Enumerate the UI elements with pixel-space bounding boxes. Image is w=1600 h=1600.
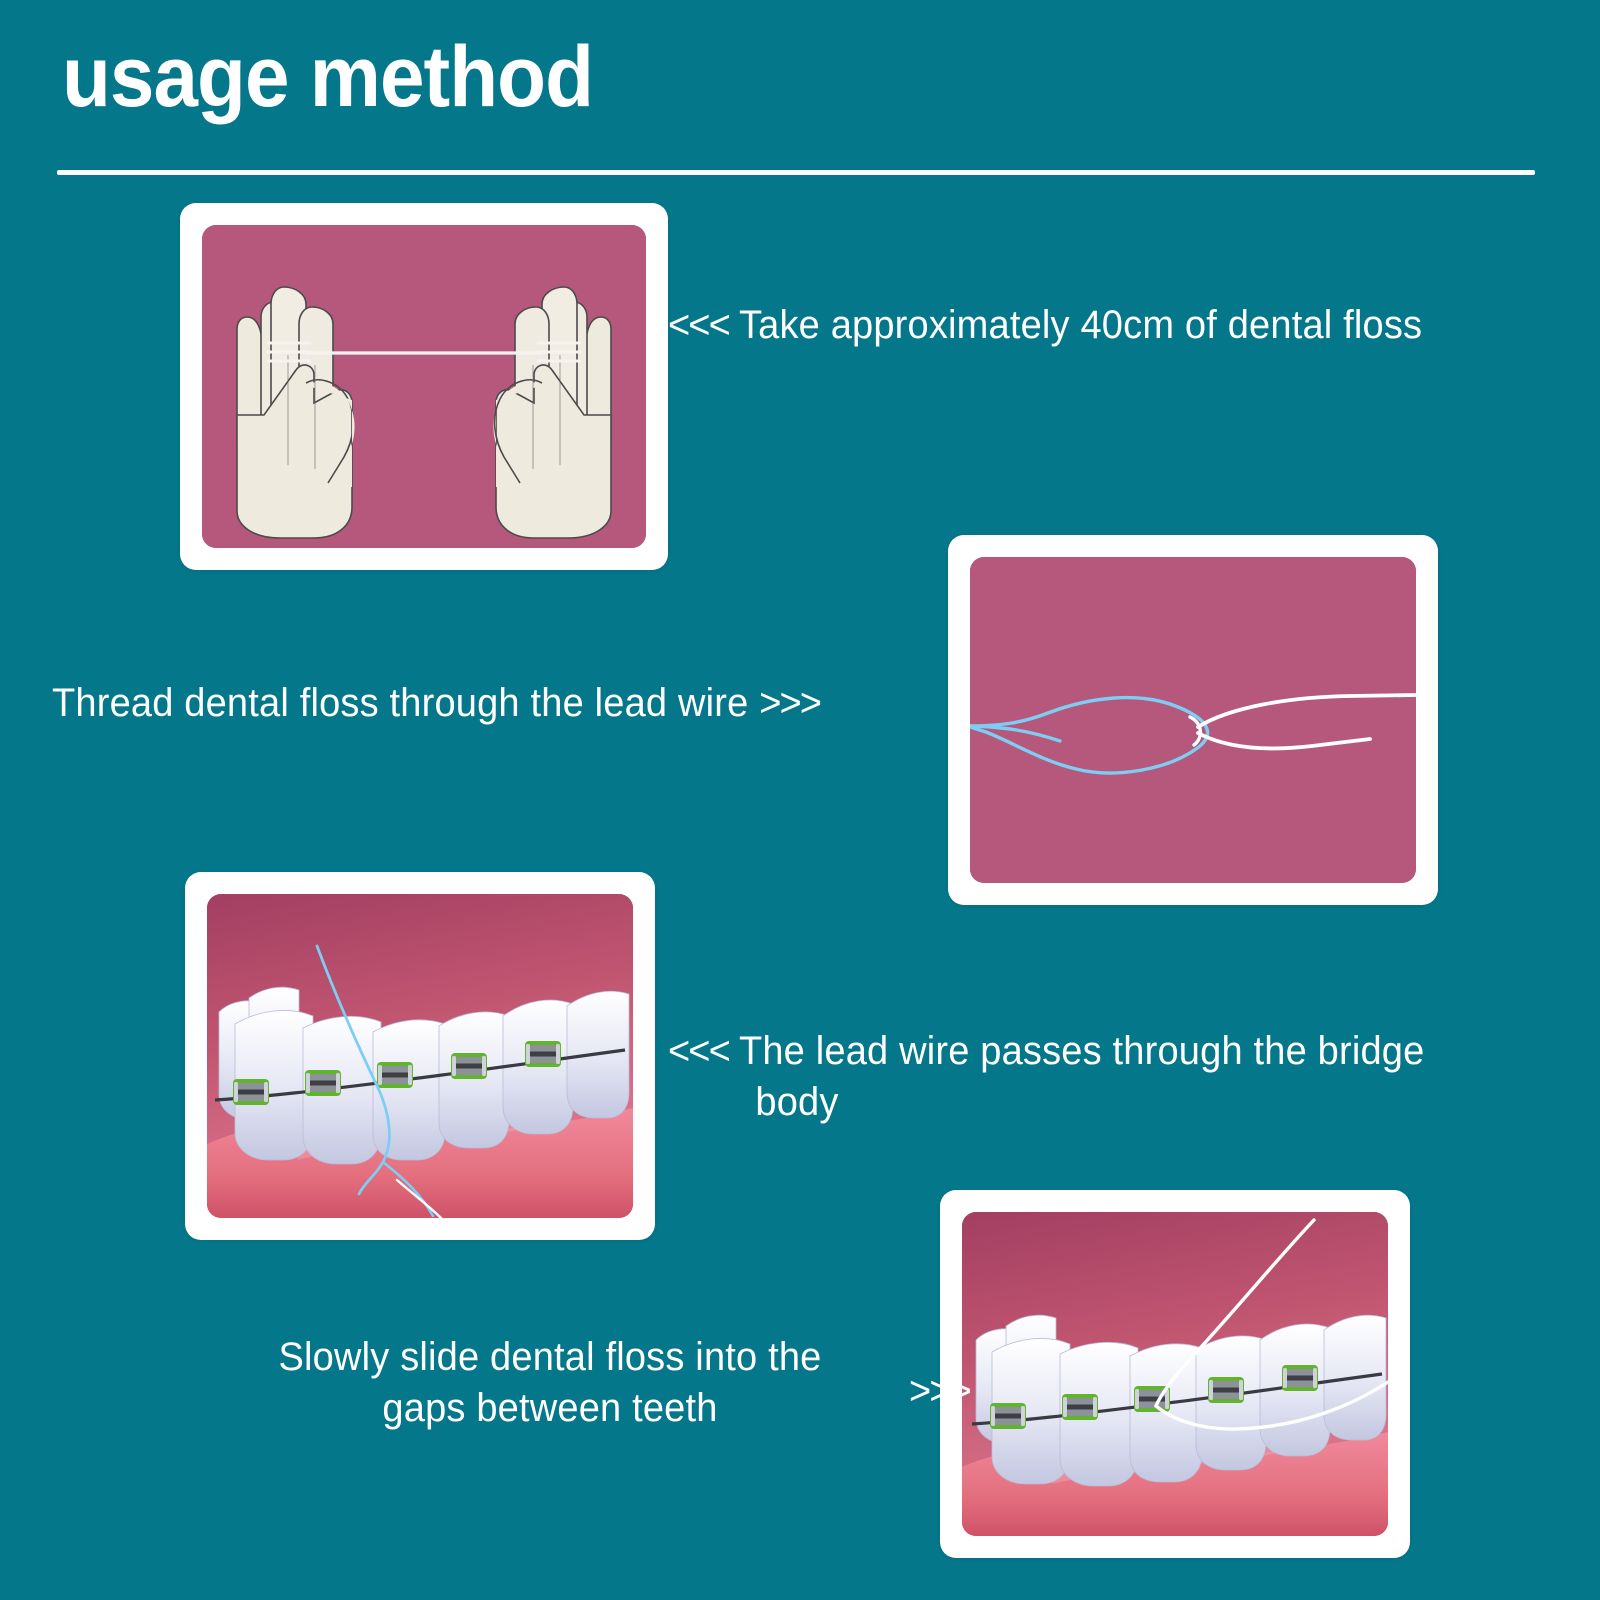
caption-text-step-4-line2: gaps between teeth [218,1383,883,1434]
arrow-left-step-3: <<< [668,1029,729,1073]
title-divider [57,170,1535,175]
caption-text-step-4-line1: Slowly slide dental floss into the [218,1332,883,1383]
panel-braces-with-floss [940,1190,1410,1558]
page-title: usage method [62,34,593,120]
caption-text-step-2: Thread dental floss through the lead wir… [52,681,748,725]
caption-text-step-3-line2: body [668,1077,1514,1128]
panel-threader-loop [948,535,1438,905]
infographic-poster: usage method [0,0,1600,1600]
caption-text-step-1: Take approximately 40cm of dental floss [739,303,1422,347]
threader-loop-illustration [970,557,1416,883]
panel-loop-image [970,557,1416,883]
braces-floss-illustration [962,1212,1388,1536]
arrow-right-step-2: >>> [759,681,820,725]
arrow-right-step-4: >>> [909,1366,970,1417]
caption-text-step-3-line1: The lead wire passes through the bridge [739,1029,1424,1073]
panel-braces-with-threader [185,872,655,1240]
caption-step-1: <<< Take approximately 40cm of dental fl… [668,300,1504,351]
caption-step-2: Thread dental floss through the lead wir… [52,678,888,729]
panel-sliding-image [962,1212,1388,1536]
braces-threader-illustration [207,894,633,1218]
hands-illustration [202,225,646,548]
panel-hands-holding-floss [180,203,668,570]
panel-hands-image [202,225,646,548]
arrow-left-step-1: <<< [668,303,729,347]
panel-braces-image [207,894,633,1218]
caption-step-3: <<< The lead wire passes through the bri… [668,1026,1514,1128]
caption-step-4: Slowly slide dental floss into the gaps … [218,1332,883,1434]
